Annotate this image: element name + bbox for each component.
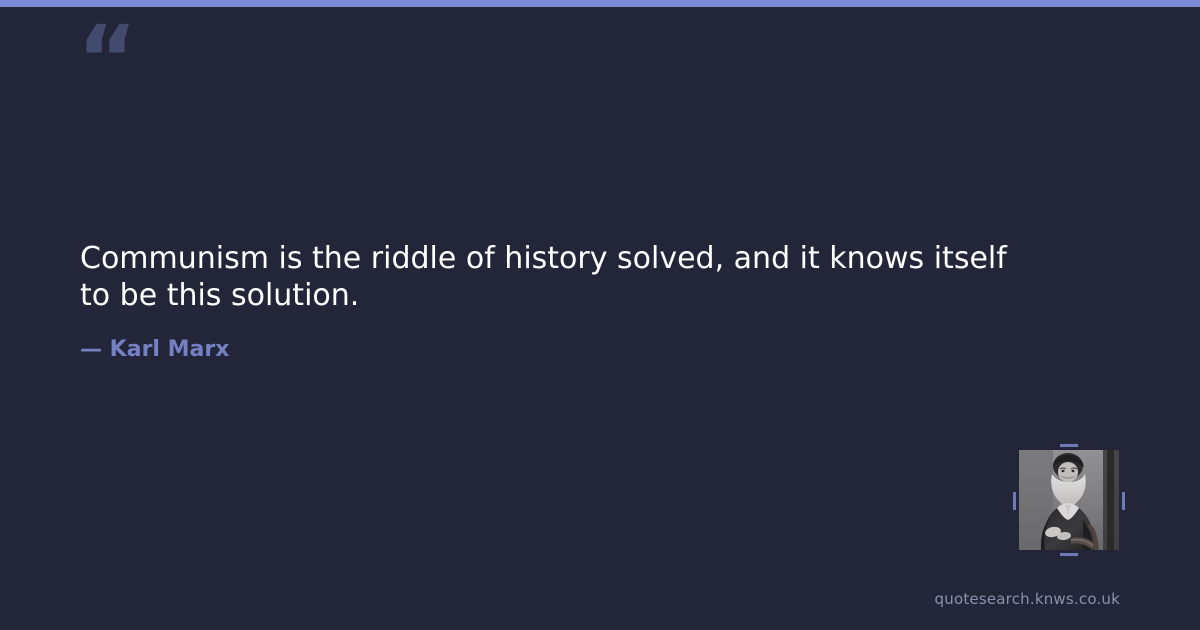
- frame-tick-top-icon: [1060, 444, 1078, 447]
- top-accent-bar: [0, 0, 1200, 7]
- quote-text: Communism is the riddle of history solve…: [80, 240, 1020, 314]
- attribution-author: Karl Marx: [110, 337, 230, 362]
- open-quote-icon: “: [77, 14, 135, 106]
- attribution: — Karl Marx: [80, 337, 229, 362]
- frame-tick-right-icon: [1122, 492, 1125, 510]
- portrait-frame: [1019, 450, 1119, 550]
- frame-tick-left-icon: [1013, 492, 1016, 510]
- watermark-url: quotesearch.knws.co.uk: [935, 590, 1120, 608]
- frame-tick-bottom-icon: [1060, 553, 1078, 556]
- attribution-dash: —: [80, 337, 110, 362]
- author-portrait: [1019, 450, 1119, 550]
- quote-card: “ Communism is the riddle of history sol…: [0, 0, 1200, 630]
- quote-block: Communism is the riddle of history solve…: [80, 240, 1020, 314]
